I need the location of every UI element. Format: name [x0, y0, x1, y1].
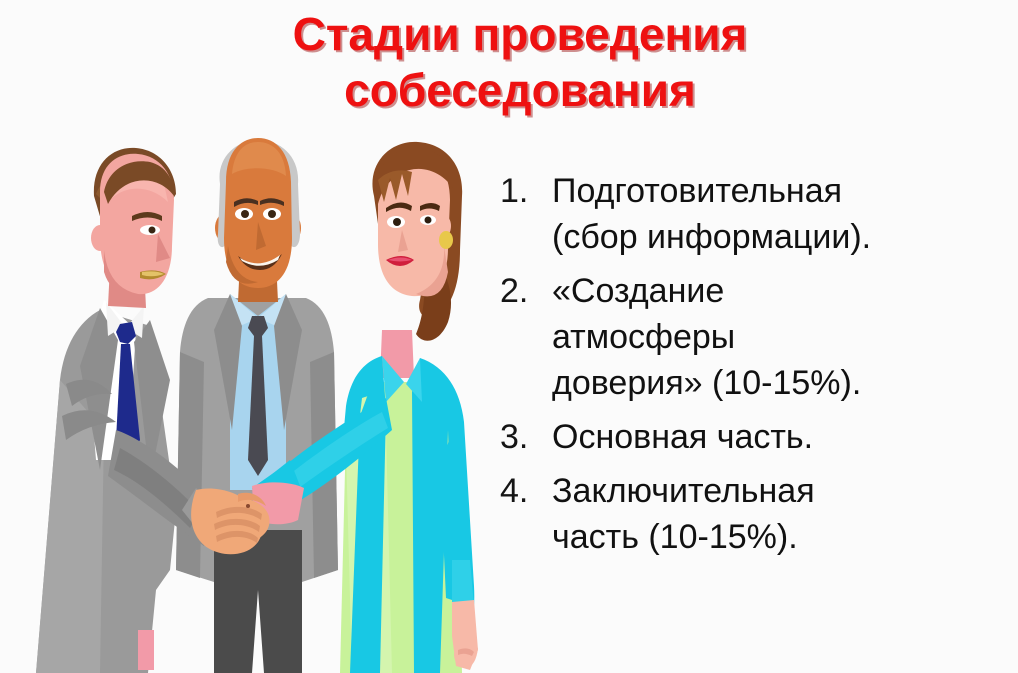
list-item-text: Подготовительная (сбор информации).	[552, 168, 1012, 260]
list-item-line: «Создание	[552, 268, 1012, 314]
list-item-text: «Создание атмосферы доверия» (10-15%).	[552, 268, 1012, 406]
page-title: Стадии проведения собеседования	[180, 6, 860, 118]
page-title-line-2: собеседования	[180, 62, 860, 118]
list-item: 3. Основная часть.	[496, 414, 1012, 460]
figure-man-center-senior	[176, 138, 338, 673]
list-item: 1. Подготовительная (сбор информации).	[496, 168, 1012, 260]
list-item-line: Заключительная	[552, 468, 1012, 514]
list-item-text: Заключительная часть (10-15%).	[552, 468, 1012, 560]
list-item-line: доверия» (10-15%).	[552, 360, 1012, 406]
list-item-line: Основная часть.	[552, 414, 1012, 460]
list-item-number: 1.	[496, 168, 552, 214]
list-item: 4. Заключительная часть (10-15%).	[496, 468, 1012, 560]
list-item-text: Основная часть.	[552, 414, 1012, 460]
list-item-line: часть (10-15%).	[552, 514, 1012, 560]
illustration-svg	[0, 130, 500, 673]
slide-canvas: Стадии проведения собеседования 1. Подго…	[0, 0, 1018, 673]
stages-list: 1. Подготовительная (сбор информации). 2…	[496, 168, 1012, 568]
list-item-line: Подготовительная	[552, 168, 1012, 214]
list-item: 2. «Создание атмосферы доверия» (10-15%)…	[496, 268, 1012, 406]
list-item-number: 4.	[496, 468, 552, 514]
business-handshake-illustration	[0, 130, 500, 673]
list-item-number: 2.	[496, 268, 552, 314]
list-item-number: 3.	[496, 414, 552, 460]
page-title-line-1: Стадии проведения	[180, 6, 860, 62]
list-item-line: (сбор информации).	[552, 214, 1012, 260]
list-item-line: атмосферы	[552, 314, 1012, 360]
earring-icon	[439, 231, 453, 249]
